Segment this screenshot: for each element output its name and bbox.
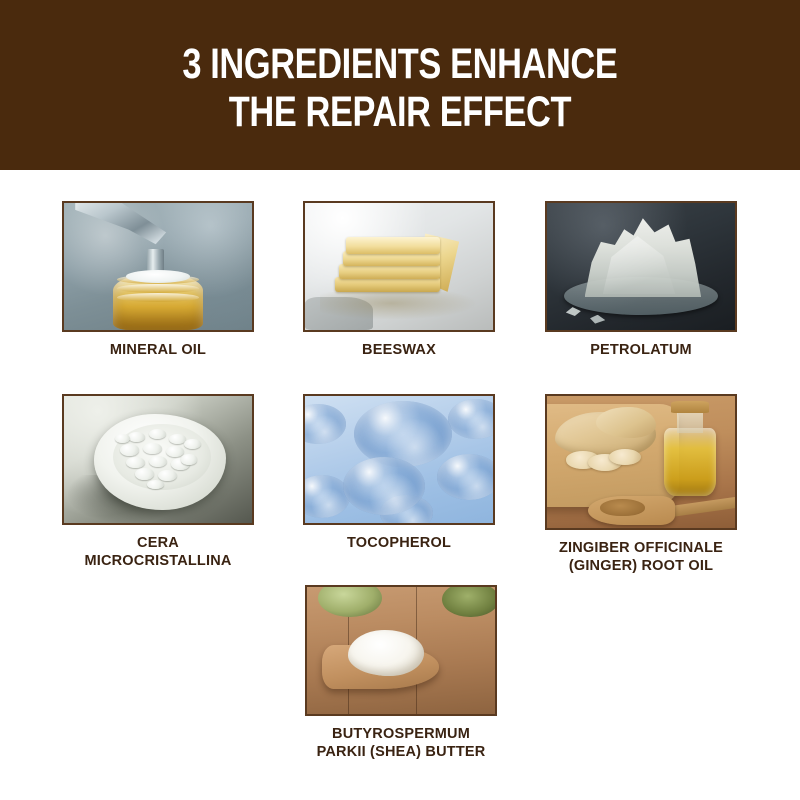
ingredient-label-ginger-root-oil: ZINGIBER OFFICINALE (GINGER) ROOT OIL (545, 539, 737, 575)
label-line-1: TOCOPHEROL (347, 535, 451, 551)
ingredient-card-mineral-oil: MINERAL OIL (62, 201, 254, 359)
petrolatum-chip-icon (566, 307, 581, 316)
pipette-icon (75, 201, 192, 261)
ingredient-label-mineral-oil: MINERAL OIL (62, 341, 254, 359)
wax-pellet-icon (115, 434, 130, 443)
label-line-1: BUTYROSPERMUM (305, 725, 497, 743)
beeswax-artwork (305, 203, 493, 330)
petrolatum-chip-icon (588, 315, 605, 324)
tocopherol-artwork (305, 396, 493, 523)
bubble-icon (448, 399, 495, 440)
wax-pellet-icon (149, 429, 166, 439)
cera-microcristallina-artwork (64, 396, 252, 523)
ingredient-card-petrolatum: PETROLATUM (545, 201, 737, 359)
header-banner: 3 INGREDIENTS ENHANCE THE REPAIR EFFECT (0, 0, 800, 170)
ingredient-card-beeswax: BEESWAX (303, 201, 495, 359)
ingredient-image-beeswax (303, 201, 495, 332)
label-line-1: PETROLATUM (590, 342, 692, 358)
oil-bottle-icon (664, 428, 717, 497)
shea-butter-artwork (307, 587, 495, 714)
label-line-2: (GINGER) ROOT OIL (545, 557, 737, 575)
wax-pellet-icon (120, 444, 139, 455)
ingredient-image-tocopherol (303, 394, 495, 525)
ingredient-label-tocopherol: TOCOPHEROL (303, 534, 495, 552)
wax-pellet-icon (181, 454, 198, 464)
ginger-root-oil-artwork (547, 396, 735, 528)
ingredient-label-shea-butter: BUTYROSPERMUM PARKII (SHEA) BUTTER (305, 725, 497, 761)
label-line-2: MICROCRISTALLINA (62, 552, 254, 570)
ingredient-label-cera-microcristallina: CERA MICROCRISTALLINA (62, 534, 254, 570)
title-line-1: 3 INGREDIENTS ENHANCE (182, 40, 617, 88)
ingredient-image-mineral-oil (62, 201, 254, 332)
ingredient-card-shea-butter: BUTYROSPERMUM PARKII (SHEA) BUTTER (305, 585, 497, 761)
ginger-slice-icon (609, 449, 641, 465)
label-line-2: PARKII (SHEA) BUTTER (305, 743, 497, 761)
bubble-icon (437, 454, 495, 500)
bubble-icon (303, 404, 346, 445)
shea-fruit-icon (318, 585, 382, 617)
wax-pellet-icon (158, 470, 177, 481)
shadow-icon (320, 292, 478, 320)
ingredient-card-cera-microcristallina: CERA MICROCRISTALLINA (62, 394, 254, 570)
shea-fruit-icon (442, 585, 497, 617)
cork-stopper-icon (671, 401, 709, 413)
label-line-1: MINERAL OIL (110, 342, 206, 358)
ginger-powder-icon (600, 499, 645, 516)
ingredient-image-petrolatum (545, 201, 737, 332)
ingredient-image-cera-microcristallina (62, 394, 254, 525)
mineral-oil-artwork (64, 203, 252, 330)
bottle-cap-icon (126, 270, 190, 283)
wax-pellet-icon (128, 432, 145, 442)
bottle-ring-icon (117, 293, 200, 302)
label-line-1: BEESWAX (362, 342, 436, 358)
ingredient-label-petrolatum: PETROLATUM (545, 341, 737, 359)
label-line-1: ZINGIBER OFFICINALE (545, 539, 737, 557)
bubble-icon (354, 401, 452, 467)
shea-butter-cream-icon (348, 630, 423, 676)
wax-pellet-icon (135, 468, 154, 479)
ingredient-label-beeswax: BEESWAX (303, 341, 495, 359)
ingredient-card-ginger-root-oil: ZINGIBER OFFICINALE (GINGER) ROOT OIL (545, 394, 737, 575)
label-line-1: CERA (62, 534, 254, 552)
ingredient-image-ginger-root-oil (545, 394, 737, 530)
ingredient-card-tocopherol: TOCOPHEROL (303, 394, 495, 552)
wax-slab-icon (346, 237, 440, 254)
petrolatum-artwork (547, 203, 735, 330)
title-line-2: THE REPAIR EFFECT (229, 88, 571, 136)
wax-slab-icon (339, 264, 441, 279)
wax-pellet-icon (147, 480, 164, 489)
ingredient-image-shea-butter (305, 585, 497, 716)
ingredients-infographic: 3 INGREDIENTS ENHANCE THE REPAIR EFFECT … (0, 0, 800, 800)
